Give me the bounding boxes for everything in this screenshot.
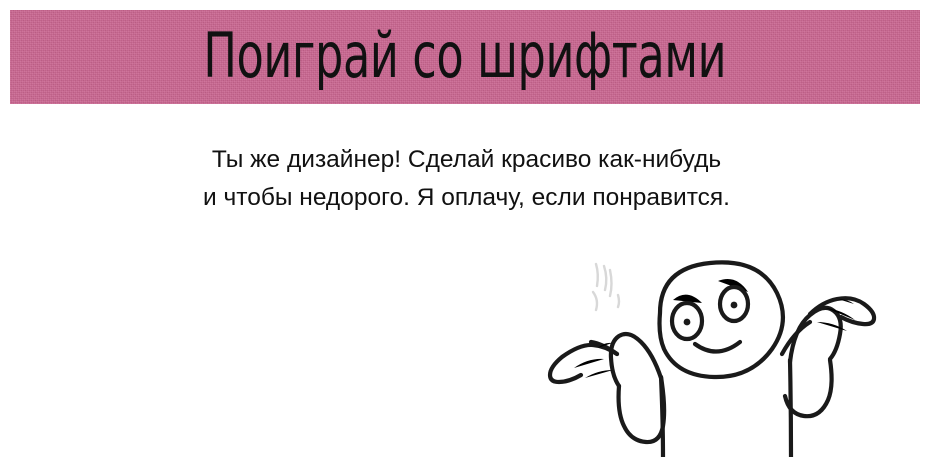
mouth — [695, 342, 740, 360]
shrug-meme-illustration — [538, 250, 878, 457]
page-title: Поиграй со шрифтами — [10, 25, 920, 87]
page-title-text: Поиграй со шрифтами — [204, 25, 727, 87]
body-copy-line-2: и чтобы недорого. Я оплачу, если понрави… — [0, 179, 933, 217]
title-banner: Поиграй со шрифтами — [10, 10, 920, 104]
body-copy: Ты же дизайнер! Сделай красиво как-нибуд… — [0, 141, 933, 217]
body-copy-line-1: Ты же дизайнер! Сделай красиво как-нибуд… — [0, 141, 933, 179]
watermark-artifact — [593, 264, 619, 310]
right-pupil — [731, 302, 738, 309]
left-pupil — [684, 319, 691, 326]
eyebrows — [673, 279, 748, 303]
left-hand — [550, 343, 617, 382]
left-arm — [591, 334, 664, 442]
head — [660, 262, 783, 377]
eyes — [672, 287, 748, 339]
